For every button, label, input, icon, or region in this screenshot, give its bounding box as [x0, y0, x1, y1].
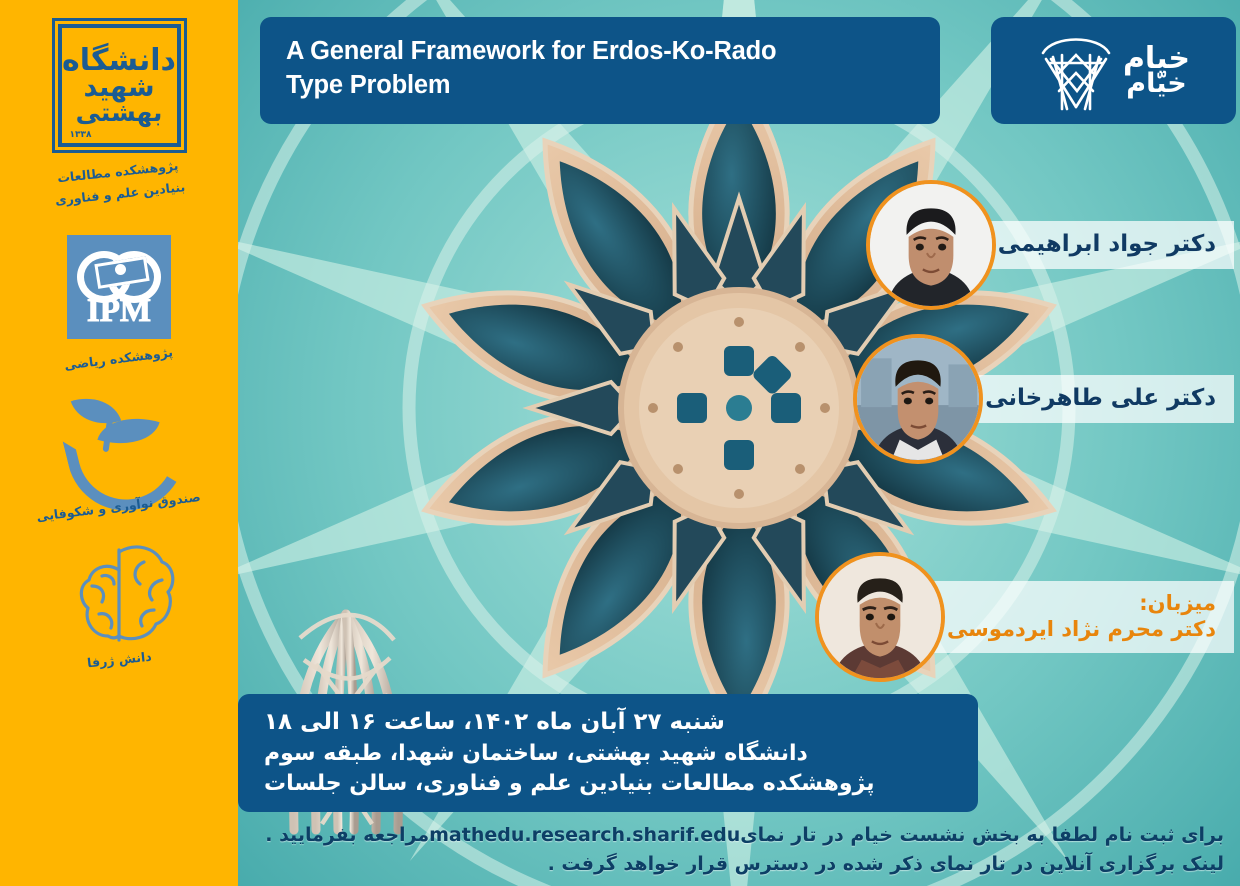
khayyam-name-sub: خیّام [1123, 70, 1190, 98]
logo-ipm: IPM پژوهشکده ریاضی [0, 205, 238, 366]
footer-registration-text-after: مراجعه بفرمایید . [265, 824, 429, 846]
speaker-photo-1 [870, 184, 992, 306]
event-date-time: شنبه ۲۷ آبان ماه ۱۴۰۲، ساعت ۱۶ الی ۱۸ [264, 707, 725, 739]
host-avatar [815, 552, 945, 682]
speaker-name-1: دکتر جواد ابراهیمی [968, 221, 1234, 270]
title-line-1: A General Framework for Erdos-Ko-Rado [286, 35, 914, 69]
sbu-emblem-line-1: دانشگاه [62, 47, 176, 76]
speaker-avatar-1 [866, 180, 996, 310]
event-venue-line-1: دانشگاه شهید بهشتی، ساختمان شهدا، طبقه س… [264, 739, 808, 769]
ipm-infinity-icon [74, 247, 164, 293]
sponsor-sidebar: دانشگاه شهید بهشتی ۱۳۳۸ پژوهشکده مطالعات… [0, 0, 238, 886]
speaker-row-1: دکتر جواد ابراهیمی [866, 180, 1234, 310]
registration-url[interactable]: mathedu.research.sharif.edu [429, 824, 740, 846]
host-label: میزبان: دکتر محرم نژاد ایردموسی [917, 581, 1234, 654]
sbu-emblem-frame: دانشگاه شهید بهشتی ۱۳۳۸ [58, 24, 181, 147]
footer-registration-text-before: برای ثبت نام لطفا به بخش نشست خیام در تا… [740, 824, 1224, 846]
host-row: میزبان: دکتر محرم نژاد ایردموسی [815, 552, 1234, 682]
speaker-row-2: دکتر علی طاهرخانی [853, 334, 1234, 464]
event-venue-line-2: پژوهشکده مطالعات بنیادین علم و فناوری، س… [264, 769, 875, 799]
sbu-founding-year: ۱۳۳۸ [70, 130, 92, 140]
brain-apple-icon [58, 540, 180, 648]
poster-canvas: A General Framework for Erdos-Ko-Rado Ty… [0, 0, 1240, 886]
sbu-emblem-line-2: شهید [84, 75, 155, 101]
khayyam-wordmark: خیام خیّام [1123, 43, 1190, 99]
speaker-avatar-2 [853, 334, 983, 464]
sbu-emblem-text: دانشگاه شهید بهشتی [72, 38, 167, 133]
logo-innovation-fund: صندوق نوآوری و شکوفایی [0, 366, 238, 514]
sbu-emblem-line-3: بهشتی [76, 101, 163, 125]
danesh-zharfa-caption: دانش ژرفا [86, 648, 152, 670]
logo-danesh-zharfa: دانش ژرفا [0, 514, 238, 667]
khayyam-dome-icon [1037, 29, 1115, 113]
presentation-title-banner: A General Framework for Erdos-Ko-Rado Ty… [260, 17, 940, 124]
speaker-name-2: دکتر علی طاهرخانی [955, 375, 1234, 424]
host-name: دکتر محرم نژاد ایردموسی [947, 617, 1216, 641]
innovation-sprout-icon [59, 392, 179, 497]
event-details-banner: شنبه ۲۷ آبان ماه ۱۴۰۲، ساعت ۱۶ الی ۱۸ دا… [238, 694, 978, 812]
title-line-2: Type Problem [286, 69, 914, 103]
host-photo [819, 556, 941, 678]
ipm-emblem: IPM [67, 235, 171, 339]
host-role-label: میزبان: [947, 590, 1216, 616]
logo-shahid-beheshti-university: دانشگاه شهید بهشتی ۱۳۳۸ پژوهشکده مطالعات… [0, 0, 238, 205]
khayyam-brand-logo: خیام خیّام [991, 17, 1236, 124]
speaker-photo-2 [857, 338, 979, 460]
